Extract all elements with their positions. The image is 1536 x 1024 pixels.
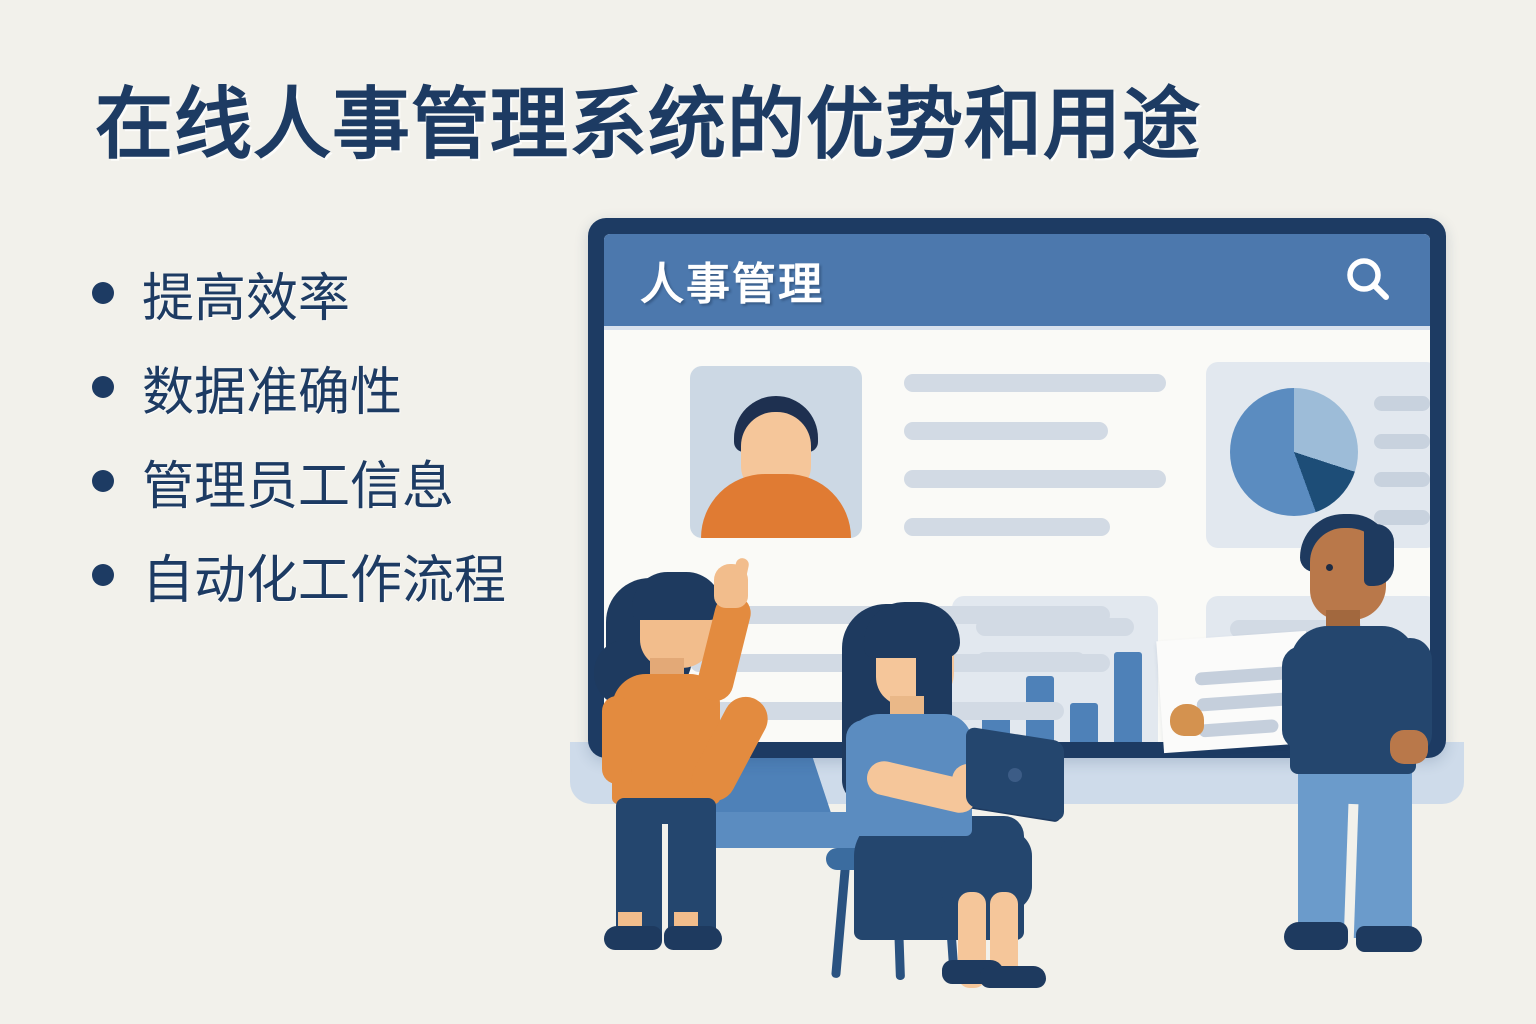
app-header-bar: 人事管理 [604,234,1430,330]
shoe-left [1284,922,1348,950]
page-title: 在线人事管理系统的优势和用途 [95,62,1455,174]
shoe-left [604,926,662,950]
list-item: 自动化工作流程 [92,528,612,622]
man-standing-illustration [1278,508,1468,978]
leg-gap [662,824,668,940]
woman-pointing-illustration [588,556,798,976]
pie-chart [1230,388,1358,516]
arm-left [1282,646,1322,750]
woman-seated-illustration [820,592,1100,984]
hand-left [1170,704,1204,736]
shoe-right [664,926,722,950]
bullet-label: 提高效率 [142,256,350,331]
hair-top [632,572,722,620]
document-line [1196,692,1291,712]
detail-line [904,518,1110,536]
benefits-bullet-list: 提高效率 数据准确性 管理员工信息 自动化工作流程 [92,246,612,622]
bullet-dot-icon [92,376,114,398]
bar [1114,652,1142,742]
bullet-label: 自动化工作流程 [142,538,506,613]
legend-entry [1374,472,1430,487]
bullet-label: 管理员工信息 [142,444,454,519]
bullet-dot-icon [92,470,114,492]
list-item: 数据准确性 [92,340,612,434]
bullet-dot-icon [92,564,114,586]
eye [1326,564,1333,571]
document-line [1198,719,1279,738]
search-icon[interactable] [1340,252,1396,308]
bullet-dot-icon [92,282,114,304]
employee-avatar-card[interactable] [690,366,862,538]
thigh [940,830,1032,912]
chair-leg [831,866,850,978]
bullet-label: 数据准确性 [142,350,402,425]
user-avatar-icon [701,474,851,538]
left-arm [602,696,632,784]
detail-line [904,470,1166,488]
legend-entry [1374,434,1430,449]
document-line [1195,666,1290,686]
shoe-right [980,966,1046,988]
detail-line [904,422,1108,440]
legend-entry [1374,396,1430,411]
app-title: 人事管理 [640,248,824,312]
shoe-right [1356,926,1422,952]
hair-side [1364,524,1394,586]
list-item: 提高效率 [92,246,612,340]
laptop-logo-icon [1008,768,1022,782]
detail-line [904,374,1166,392]
hand-right [1390,730,1428,764]
list-item: 管理员工信息 [92,434,612,528]
